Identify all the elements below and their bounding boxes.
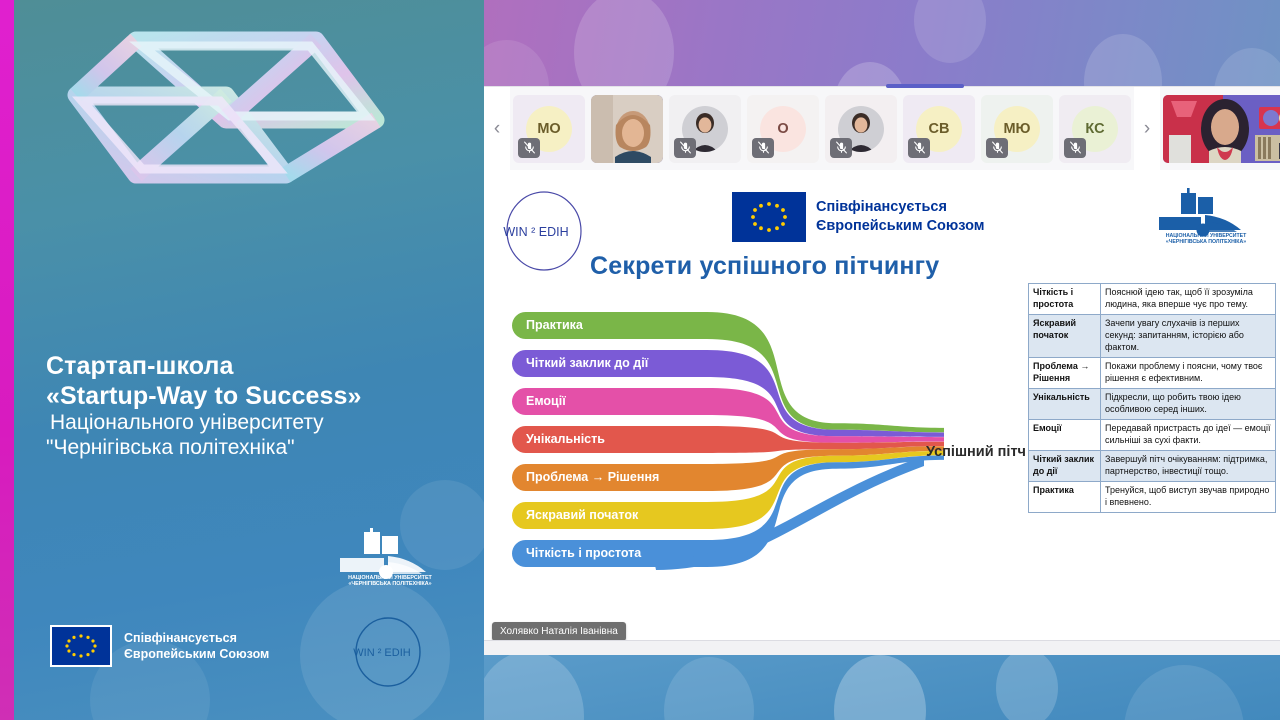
app-background-bottom xyxy=(484,655,1280,720)
eu-text-line-2: Європейським Союзом xyxy=(124,646,269,663)
mic-muted-icon xyxy=(752,138,774,158)
university-logo-line-2: «ЧЕРНІГІВСЬКА ПОЛІТЕХНІКА» xyxy=(348,581,431,586)
flow-label: Емоції xyxy=(526,394,566,408)
bokeh-circle xyxy=(484,655,584,720)
app-background-top xyxy=(484,0,1280,86)
filmstrip-prev-button[interactable]: ‹ xyxy=(484,87,510,171)
stage-footer-bar xyxy=(484,640,1280,655)
participant-tile-1[interactable]: МО xyxy=(513,95,585,163)
poster-artwork xyxy=(16,0,436,300)
table-row: Чіткість і простотаПояснюй ідею так, щоб… xyxy=(1029,284,1276,315)
bokeh-circle xyxy=(484,40,549,86)
table-row: ПрактикаТренуйся, щоб виступ звучав прир… xyxy=(1029,481,1276,512)
presenter-name-chip: Холявко Наталія Іванівна xyxy=(492,622,626,641)
table-cell-value: Пояснюй ідею так, щоб її зрозуміла людин… xyxy=(1101,284,1276,315)
mic-muted-icon xyxy=(518,138,540,158)
bokeh-circle xyxy=(1084,34,1162,86)
poster-title-line-3: Національного університету xyxy=(46,411,466,436)
flow-label: Чіткий заклик до дії xyxy=(526,356,648,370)
win-edih-logo: WIN ² EDIH xyxy=(498,188,590,279)
table-cell-key: Чіткий заклик до дії xyxy=(1029,450,1101,481)
self-view-tile[interactable] xyxy=(1163,95,1280,163)
table-cell-value: Тренуйся, щоб виступ звучав природно і в… xyxy=(1101,481,1276,512)
mic-muted-icon xyxy=(908,138,930,158)
presentation-stage: WIN ² EDIH xyxy=(484,170,1280,655)
slide-content: WIN ² EDIH xyxy=(484,170,1280,640)
participant-video-feed xyxy=(591,95,663,163)
filmstrip-next-button[interactable]: › xyxy=(1134,87,1160,171)
table-row: УнікальністьПідкресли, що робить твою ід… xyxy=(1029,388,1276,419)
eu-flag-icon xyxy=(732,192,806,242)
university-logo-line-2: «ЧЕРНІГІВСЬКА ПОЛІТЕХНІКА» xyxy=(1166,239,1246,244)
bokeh-circle xyxy=(574,0,674,86)
university-logo-line-1: НАЦІОНАЛЬНИЙ УНІВЕРСИТЕТ xyxy=(1166,231,1247,239)
eu-cofunded-logo: Співфінансується Європейським Союзом xyxy=(50,625,269,667)
university-logo: НАЦІОНАЛЬНИЙ УНІВЕРСИТЕТ «ЧЕРНІГІВСЬКА П… xyxy=(1149,188,1263,249)
mic-muted-icon xyxy=(674,138,696,158)
outcome-label: Успішний пітч xyxy=(926,444,1026,460)
participant-tile-5[interactable] xyxy=(825,95,897,163)
participant-tile-8[interactable]: КС xyxy=(1059,95,1131,163)
bokeh-circle xyxy=(834,655,926,720)
table-cell-key: Яскравий початок xyxy=(1029,314,1101,357)
eu-text-line-2: Європейським Союзом xyxy=(816,217,985,236)
eu-cofunded-logo: Співфінансується Європейським Союзом xyxy=(732,192,985,242)
table-cell-value: Покажи проблему і поясни, чому твоє ріше… xyxy=(1101,357,1276,388)
table-cell-key: Проблема → Рішення xyxy=(1029,357,1101,388)
participant-tile-7[interactable]: МЮ xyxy=(981,95,1053,163)
table-cell-key: Емоції xyxy=(1029,419,1101,450)
bokeh-circle xyxy=(1124,665,1244,720)
video-conference-window: ‹ МООСВМЮКС › xyxy=(484,0,1280,720)
pitch-secrets-table: Чіткість і простотаПояснюй ідею так, щоб… xyxy=(1028,283,1276,513)
table-row: Проблема → РішенняПокажи проблему і пояс… xyxy=(1029,357,1276,388)
eu-text-line-1: Співфінансується xyxy=(816,198,985,217)
magenta-accent-strip xyxy=(0,0,14,720)
bokeh-circle xyxy=(1214,48,1280,86)
win-edih-logo: WIN ² EDIH xyxy=(348,615,428,694)
bokeh-circle xyxy=(834,62,906,86)
participant-tile-3[interactable] xyxy=(669,95,741,163)
win-edih-label: WIN ² EDIH xyxy=(503,225,568,239)
mic-muted-icon xyxy=(1064,138,1086,158)
table-row: Чіткий заклик до діїЗавершуй пітч очікув… xyxy=(1029,450,1276,481)
eu-cofunded-text: Співфінансується Європейським Союзом xyxy=(816,198,985,236)
flow-label: Яскравий початок xyxy=(526,508,638,522)
table-cell-key: Чіткість і простота xyxy=(1029,284,1101,315)
table-row: Яскравий початокЗачепи увагу слухачів із… xyxy=(1029,314,1276,357)
table-row: ЕмоціїПередавай пристрасть до ідеї — емо… xyxy=(1029,419,1276,450)
table-cell-key: Унікальність xyxy=(1029,388,1101,419)
mic-muted-icon xyxy=(830,138,852,158)
eu-text-line-1: Співфінансується xyxy=(124,630,269,647)
university-logo-line-1: НАЦІОНАЛЬНИЙ УНІВЕРСИТЕТ xyxy=(348,573,432,581)
table-cell-value: Зачепи увагу слухачів із перших секунд: … xyxy=(1101,314,1276,357)
poster-title-line-4: "Чернігівська політехніка" xyxy=(46,436,466,461)
flow-label: Практика xyxy=(526,318,583,332)
flow-label: Чіткість і простота xyxy=(526,546,641,560)
table-cell-value: Підкресли, що робить твою ідею особливою… xyxy=(1101,388,1276,419)
university-logo: НАЦІОНАЛЬНИЙ УНІВЕРСИТЕТ «ЧЕРНІГІВСЬКА П… xyxy=(330,528,450,591)
table-cell-key: Практика xyxy=(1029,481,1101,512)
bokeh-circle xyxy=(664,657,754,720)
slide-title: Секрети успішного пітчингу xyxy=(590,252,939,281)
bokeh-circle xyxy=(914,0,986,63)
table-cell-value: Передавай пристрасть до ідеї — емоції си… xyxy=(1101,419,1276,450)
poster-title-line-2: «Startup-Way to Success» xyxy=(46,382,466,412)
poster-title-line-1: Стартап-школа xyxy=(46,352,466,382)
eu-flag-icon xyxy=(50,625,112,667)
participant-filmstrip: ‹ МООСВМЮКС › xyxy=(484,86,1280,170)
active-tab-indicator xyxy=(886,84,964,88)
poster-panel: Стартап-школа «Startup-Way to Success» Н… xyxy=(0,0,484,720)
poster-title: Стартап-школа «Startup-Way to Success» Н… xyxy=(46,352,466,461)
bokeh-circle xyxy=(996,655,1058,720)
table-cell-value: Завершуй пітч очікуванням: підтримка, па… xyxy=(1101,450,1276,481)
flow-label: Унікальність xyxy=(526,432,605,446)
participant-tile-6[interactable]: СВ xyxy=(903,95,975,163)
eu-cofunded-text: Співфінансується Європейським Союзом xyxy=(124,630,269,663)
participant-tile-4[interactable]: О xyxy=(747,95,819,163)
mic-muted-icon xyxy=(986,138,1008,158)
flow-label: Проблема → Рішення xyxy=(526,470,659,484)
participant-tile-2[interactable] xyxy=(591,95,663,163)
win-edih-label: WIN ² EDIH xyxy=(353,647,410,659)
